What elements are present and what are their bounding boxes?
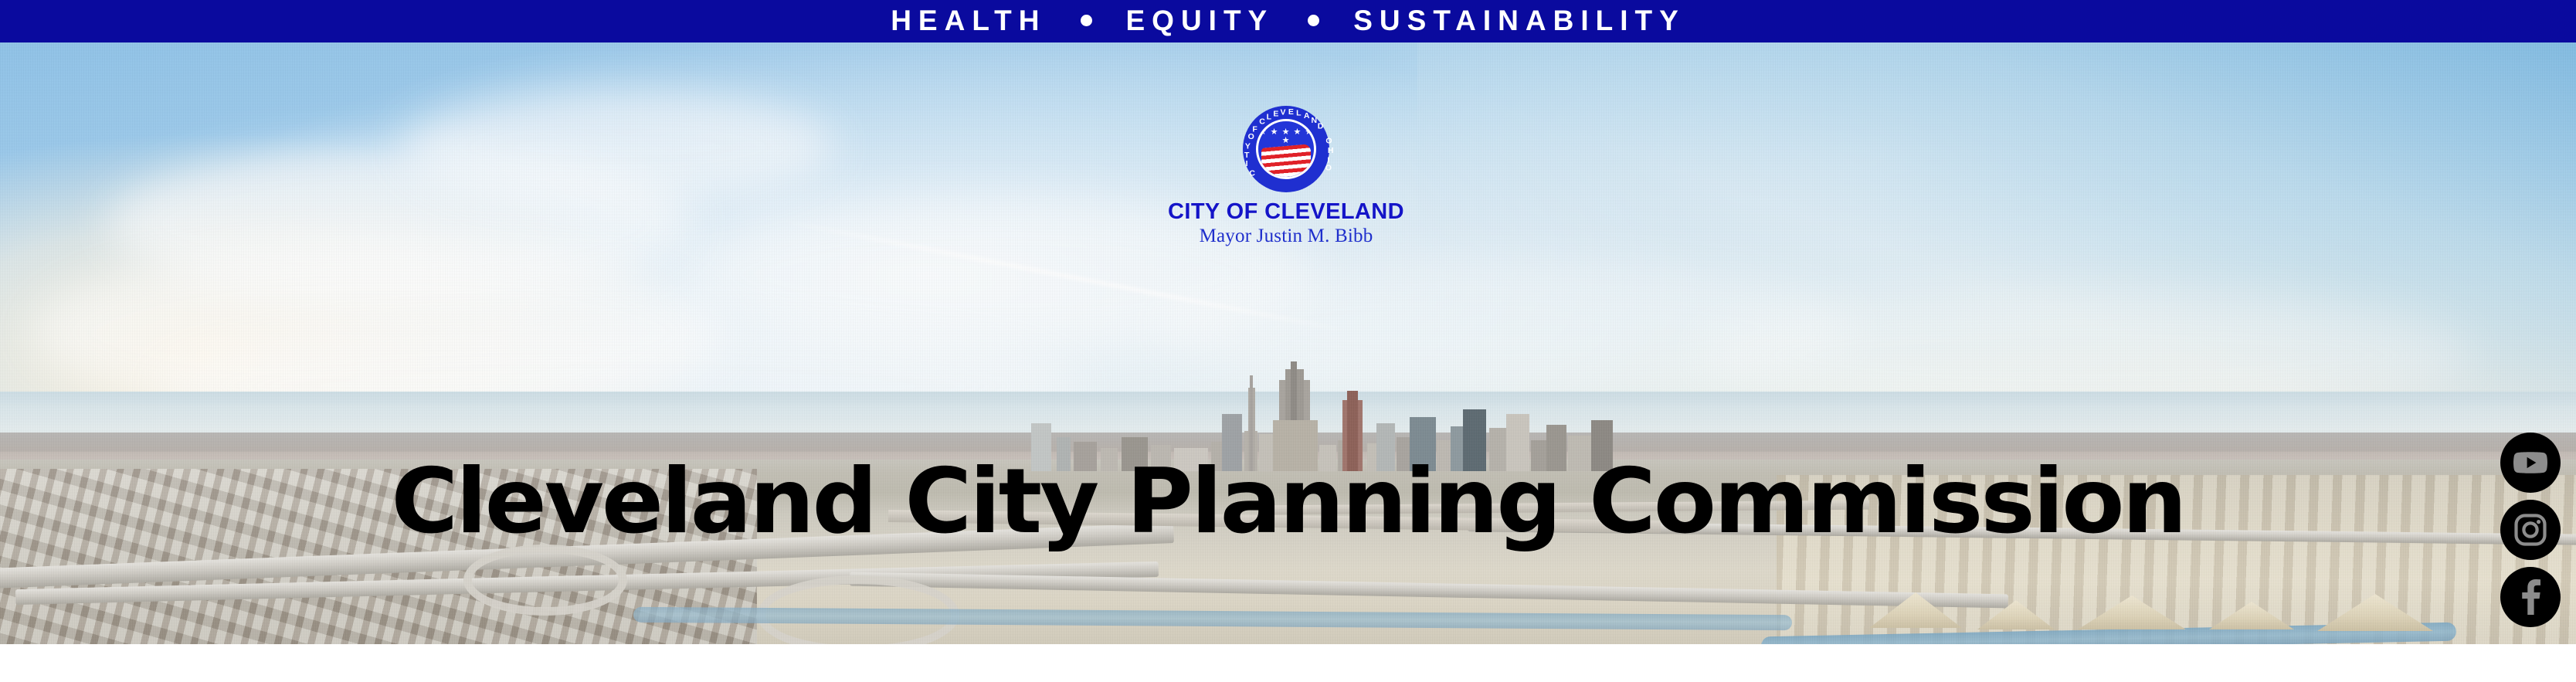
city-name-label: CITY OF CLEVELAND: [1047, 200, 1526, 223]
bullet-dot-icon: [1081, 15, 1092, 26]
page-root: HEALTH EQUITY SUSTAINABILITY: [0, 0, 2576, 682]
seal-stars: ★ ★ ★ ★ ★ ★: [1258, 128, 1314, 145]
mayor-name-label: Mayor Justin M. Bibb: [1047, 226, 1526, 247]
bottom-white-strip: [0, 644, 2576, 682]
page-title: Cleveland City Planning Commission: [0, 457, 2576, 547]
highway-ramp: [463, 545, 627, 616]
cloud: [402, 89, 834, 205]
city-of-cleveland-seal-icon: C I T Y O F C L E V E L A N D O H I O: [1243, 106, 1329, 192]
social-links: [2500, 433, 2561, 627]
bullet-dot-icon: [1308, 15, 1319, 26]
tagline-word-health: HEALTH: [891, 6, 1046, 35]
tagline-banner-content: HEALTH EQUITY SUSTAINABILITY: [891, 6, 1685, 35]
american-flag-icon: [1261, 144, 1311, 179]
seal-inner-disc: ★ ★ ★ ★ ★ ★: [1256, 119, 1316, 179]
social-link-youtube[interactable]: [2500, 433, 2561, 493]
tagline-word-equity: EQUITY: [1126, 6, 1274, 35]
instagram-icon: [2514, 514, 2547, 546]
tagline-banner: HEALTH EQUITY SUSTAINABILITY: [0, 0, 2576, 42]
social-link-facebook[interactable]: [2500, 567, 2561, 627]
city-brand-lockup: C I T Y O F C L E V E L A N D O H I O: [1047, 106, 1526, 247]
social-link-instagram[interactable]: [2500, 500, 2561, 560]
facebook-icon: [2520, 579, 2540, 615]
youtube-icon: [2513, 450, 2547, 475]
tagline-word-sustainability: SUSTAINABILITY: [1353, 6, 1685, 35]
